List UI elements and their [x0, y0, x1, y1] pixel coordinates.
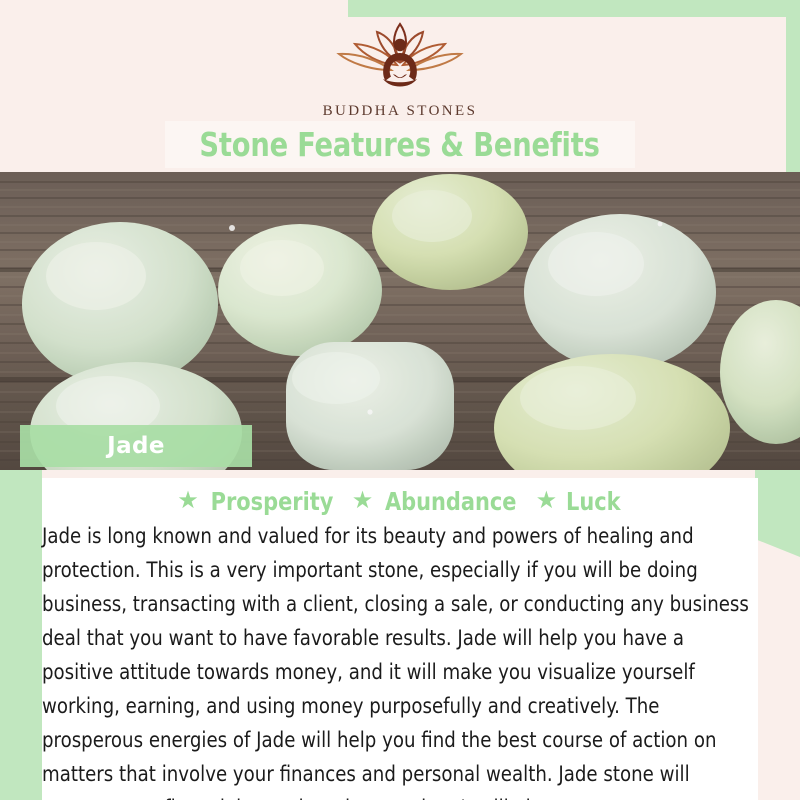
page-title: Stone Features & Benefits	[200, 125, 600, 164]
title-banner: Stone Features & Benefits	[165, 121, 635, 168]
star-icon: ★	[536, 489, 558, 513]
benefits-row: ★ Prosperity ★ Abundance ★ Luck	[42, 484, 758, 518]
benefit-label: Luck	[566, 487, 621, 516]
lotus-meditation-icon	[0, 18, 800, 99]
infographic-page: BUDDHA STONES Stone Features & Benefits	[0, 0, 800, 800]
benefit-label: Prosperity	[210, 487, 333, 516]
brand-name: BUDDHA STONES	[0, 103, 800, 120]
stone-name-badge: Jade	[20, 425, 252, 467]
benefit-item-abundance: ★ Abundance	[352, 487, 522, 516]
content-card: ★ Prosperity ★ Abundance ★ Luck Jade is …	[42, 478, 758, 800]
benefit-item-prosperity: ★ Prosperity	[177, 487, 338, 516]
star-icon: ★	[177, 489, 199, 513]
star-icon: ★	[352, 489, 374, 513]
benefit-item-luck: ★ Luck	[536, 487, 623, 516]
decorative-bottom-right-notch	[786, 736, 800, 800]
body-description: Jade is long known and valued for its be…	[42, 520, 762, 800]
stone-name-label: Jade	[107, 433, 165, 459]
benefit-label: Abundance	[385, 487, 517, 516]
decorative-green-top-band	[348, 0, 800, 17]
brand-header: BUDDHA STONES	[0, 18, 800, 120]
